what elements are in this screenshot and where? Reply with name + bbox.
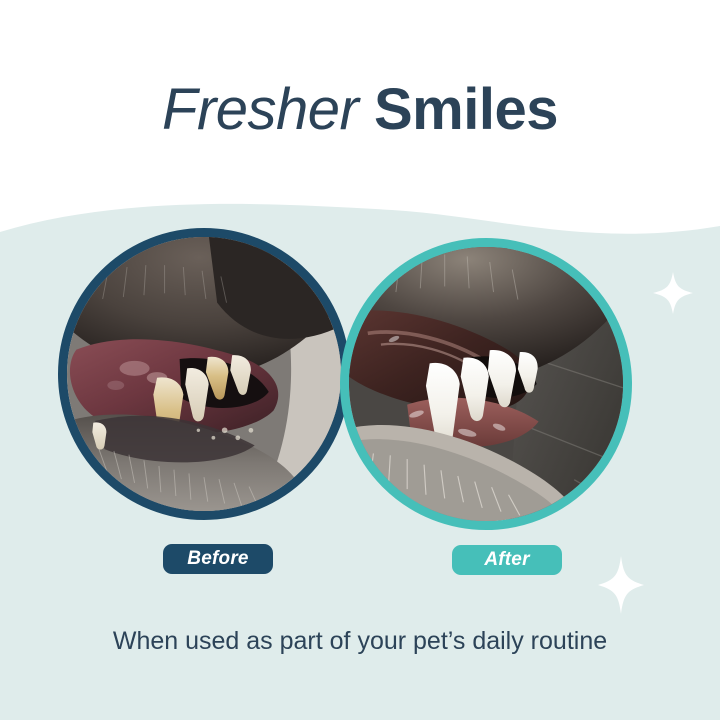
before-after-comparison: Before After	[0, 0, 720, 720]
sparkle-icon	[598, 556, 644, 614]
before-photo-circle	[58, 228, 350, 520]
after-photo-circle	[340, 238, 632, 530]
badge-before-label: Before	[187, 548, 248, 570]
sparkle-icon	[653, 272, 693, 314]
after-photo-image	[349, 247, 623, 521]
badge-after-label: After	[484, 549, 529, 571]
caption-text: When used as part of your pet’s daily ro…	[0, 627, 720, 656]
badge-before: Before	[163, 544, 273, 574]
badge-after: After	[452, 545, 562, 575]
before-photo-image	[67, 237, 341, 511]
promo-poster: Fresher Smiles	[0, 0, 720, 720]
